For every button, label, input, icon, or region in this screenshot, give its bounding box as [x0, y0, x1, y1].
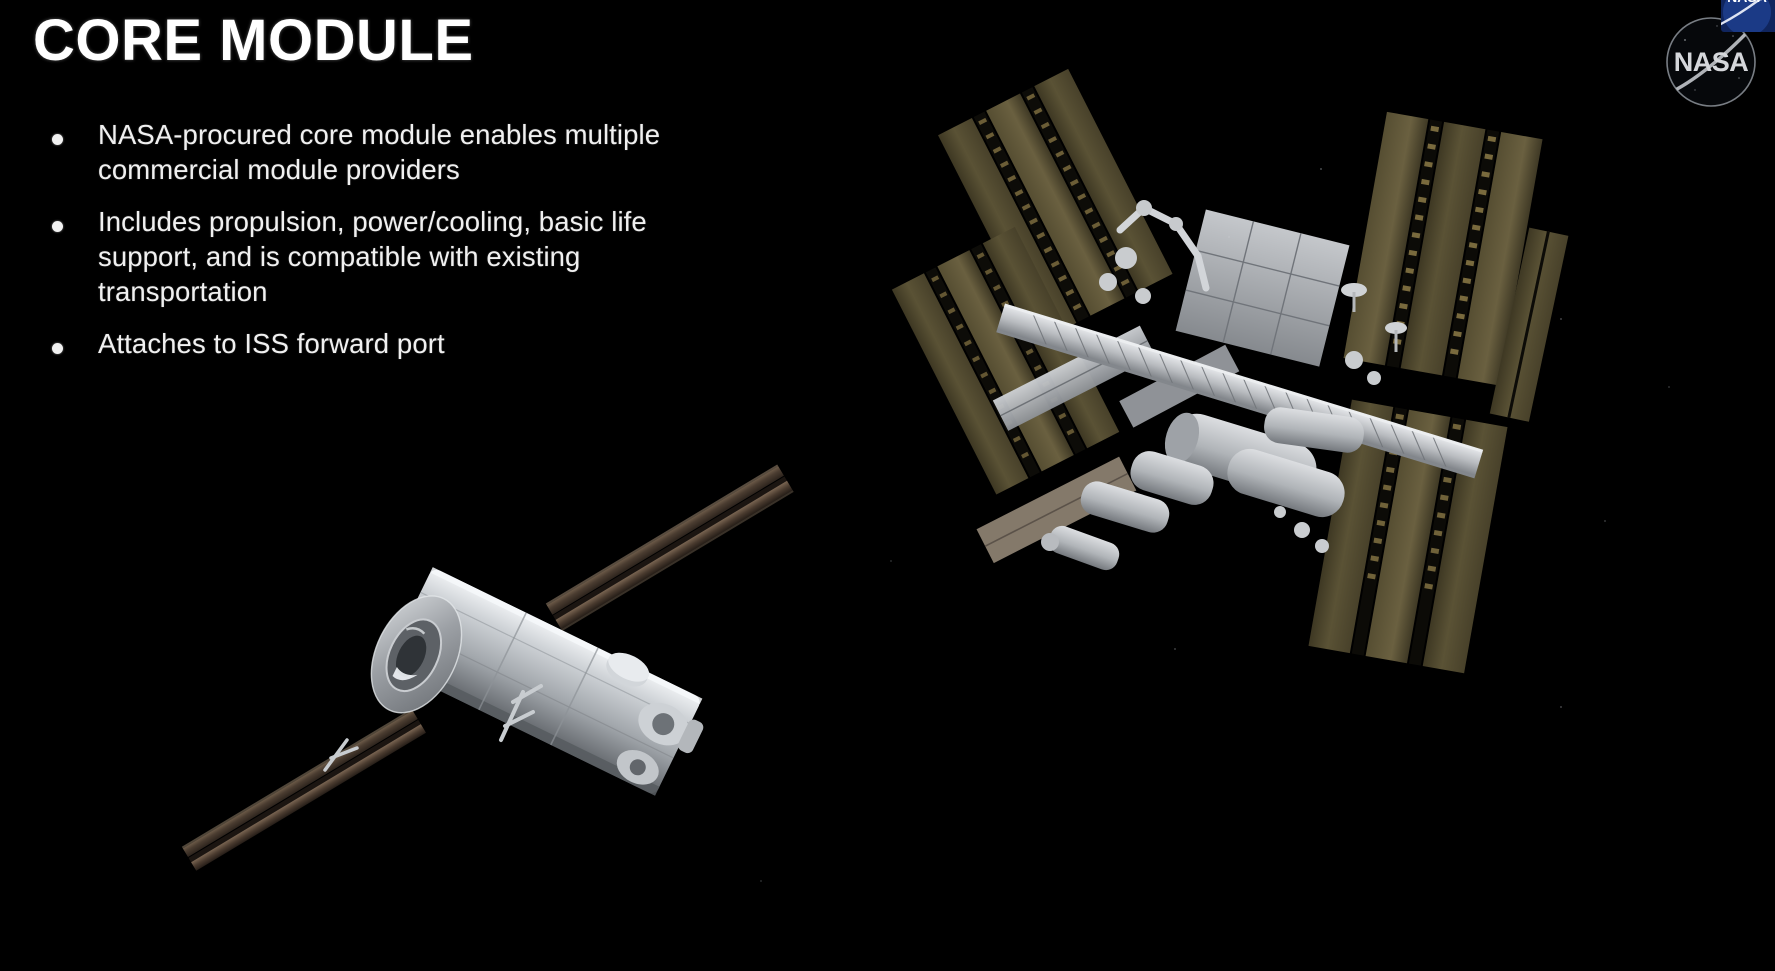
nasa-wordmark: NASA — [1674, 47, 1749, 77]
core-module-spacecraft-render — [265, 440, 845, 840]
bullet-dot-icon — [52, 343, 63, 354]
bullet-text: Attaches to ISS forward port — [98, 327, 692, 362]
bullet-list: NASA-procured core module enables multip… — [52, 118, 692, 380]
list-item: NASA-procured core module enables multip… — [52, 118, 692, 187]
bullet-dot-icon — [52, 221, 63, 232]
iss-arm-joint — [1169, 217, 1183, 231]
iss-arm-joint — [1136, 200, 1152, 216]
international-space-station-render — [930, 60, 1550, 660]
core-module-solar-wing-upper — [546, 464, 794, 630]
core-module-solar-wing-lower — [182, 709, 426, 871]
nasa-badge-wordmark: NASA — [1727, 0, 1767, 5]
bullet-text: NASA-procured core module enables multip… — [98, 118, 692, 187]
nasa-corner-badge: NASA — [1721, 0, 1775, 32]
iss-radiator-right — [1176, 210, 1350, 367]
iss-docked-vehicle — [1041, 523, 1123, 574]
bullet-dot-icon — [52, 134, 63, 145]
list-item: Includes propulsion, power/cooling, basi… — [52, 205, 692, 309]
page-title: CORE MODULE — [33, 8, 474, 75]
slide-root: CORE MODULE NASA-procured core module en… — [0, 0, 1775, 971]
list-item: Attaches to ISS forward port — [52, 327, 692, 362]
bullet-text: Includes propulsion, power/cooling, basi… — [98, 205, 692, 309]
